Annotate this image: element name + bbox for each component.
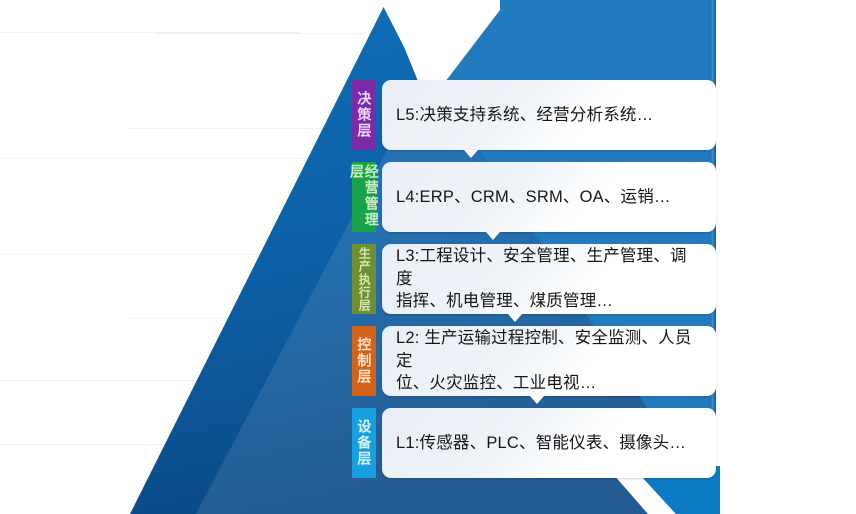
layer-card-l4[interactable]: L4:ERP、CRM、SRM、OA、运销… (382, 162, 716, 232)
layer-line: L1:传感器、PLC、智能仪表、摄像头… (396, 432, 686, 455)
layer-line: L5:决策支持系统、经营分析系统… (396, 104, 653, 127)
layer-tab-l1[interactable]: 设备层 (352, 408, 376, 478)
layer-card-text-l2: L2: 生产运输过程控制、安全监测、人员定 位、火灾监控、工业电视… (396, 327, 702, 395)
layer-stack: 决策层 L5:决策支持系统、经营分析系统… 经营管理层 L4:ERP、CRM、S… (0, 0, 856, 514)
layer-card-l2[interactable]: L2: 生产运输过程控制、安全监测、人员定 位、火灾监控、工业电视… (382, 326, 716, 396)
layer-line: 指挥、机电管理、煤质管理… (396, 290, 702, 313)
layer-row-l4[interactable]: 经营管理层 L4:ERP、CRM、SRM、OA、运销… (352, 162, 716, 232)
layer-card-l3[interactable]: L3:工程设计、安全管理、生产管理、调度 指挥、机电管理、煤质管理… (382, 244, 716, 314)
flow-arrow-l5-l4 (464, 150, 478, 158)
flow-arrow-l3-l2 (508, 314, 522, 322)
flow-arrow-l2-l1 (530, 396, 544, 404)
layer-tab-l3[interactable]: 生产执行层 (352, 244, 376, 314)
layer-card-text-l4: L4:ERP、CRM、SRM、OA、运销… (396, 186, 671, 209)
layer-line: L2: 生产运输过程控制、安全监测、人员定 (396, 327, 702, 373)
layer-line: 位、火灾监控、工业电视… (396, 372, 702, 395)
layer-tab-l4[interactable]: 经营管理层 (352, 162, 376, 232)
diagram-canvas: 决策层 L5:决策支持系统、经营分析系统… 经营管理层 L4:ERP、CRM、S… (0, 0, 856, 514)
layer-card-text-l1: L1:传感器、PLC、智能仪表、摄像头… (396, 432, 686, 455)
flow-arrow-l4-l3 (486, 232, 500, 240)
layer-card-text-l3: L3:工程设计、安全管理、生产管理、调度 指挥、机电管理、煤质管理… (396, 245, 702, 313)
layer-card-text-l5: L5:决策支持系统、经营分析系统… (396, 104, 653, 127)
layer-row-l5[interactable]: 决策层 L5:决策支持系统、经营分析系统… (352, 80, 716, 150)
layer-line: L4:ERP、CRM、SRM、OA、运销… (396, 186, 671, 209)
layer-row-l2[interactable]: 控制层 L2: 生产运输过程控制、安全监测、人员定 位、火灾监控、工业电视… (352, 326, 716, 396)
layer-card-l5[interactable]: L5:决策支持系统、经营分析系统… (382, 80, 716, 150)
layer-card-l1[interactable]: L1:传感器、PLC、智能仪表、摄像头… (382, 408, 716, 478)
layer-line: L3:工程设计、安全管理、生产管理、调度 (396, 245, 702, 291)
layer-row-l3[interactable]: 生产执行层 L3:工程设计、安全管理、生产管理、调度 指挥、机电管理、煤质管理… (352, 244, 716, 314)
layer-tab-l5[interactable]: 决策层 (352, 80, 376, 150)
layer-row-l1[interactable]: 设备层 L1:传感器、PLC、智能仪表、摄像头… (352, 408, 716, 478)
layer-tab-l2[interactable]: 控制层 (352, 326, 376, 396)
